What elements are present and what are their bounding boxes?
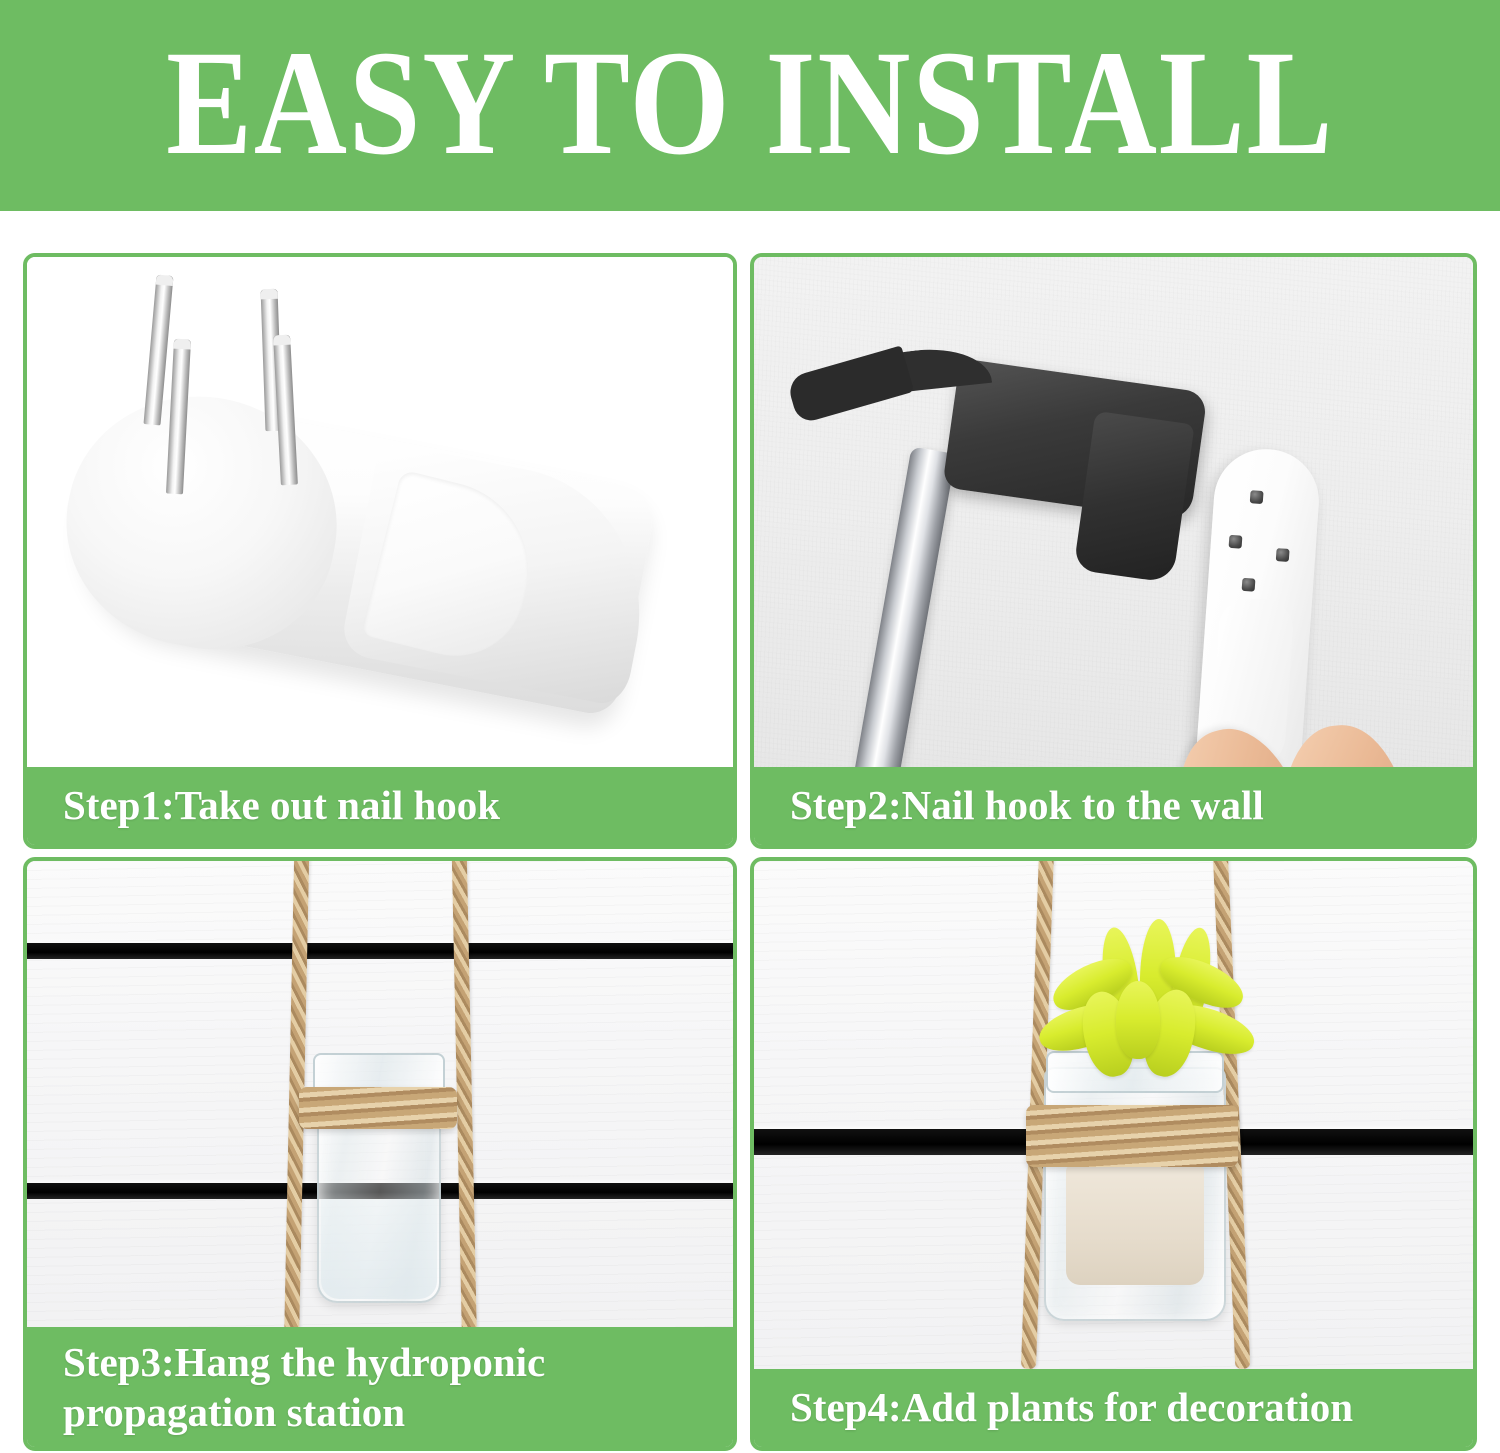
jar-water (321, 1199, 437, 1299)
jar-sand (1066, 1165, 1204, 1285)
step-2-photo (754, 257, 1473, 767)
rope-wrap-collar (299, 1087, 457, 1129)
succulent-leaf (1116, 981, 1160, 1059)
header-banner: EASY TO INSTALL (0, 0, 1500, 211)
nail-hook-illustration (27, 257, 733, 767)
rope-wrap-collar (1026, 1105, 1238, 1167)
steps-grid: Step1:Take out nail hook Step2:Nail hook… (0, 211, 1500, 1453)
step-card-2: Step2:Nail hook to the wall (750, 253, 1477, 849)
plank-gap (27, 943, 733, 959)
wall-mounted-hook (1195, 446, 1323, 767)
step-4-caption: Step4:Add plants for decoration (754, 1369, 1473, 1447)
step-3-caption: Step3:Hang the hydroponic propagation st… (27, 1327, 733, 1447)
step-1-photo (27, 257, 733, 767)
step-card-4: Step4:Add plants for decoration (750, 857, 1477, 1451)
step-4-photo (754, 861, 1473, 1369)
step-1-caption: Step1:Take out nail hook (27, 767, 733, 845)
step-3-photo (27, 861, 733, 1327)
page-title: EASY TO INSTALL (166, 28, 1334, 178)
step-2-caption: Step2:Nail hook to the wall (754, 767, 1473, 845)
hook-pin-hole-icon (1229, 535, 1243, 549)
hook-pin-hole-icon (1276, 548, 1290, 562)
hook-pin-hole-icon (1250, 490, 1264, 504)
step-card-1: Step1:Take out nail hook (23, 253, 737, 849)
step-card-3: Step3:Hang the hydroponic propagation st… (23, 857, 737, 1451)
hook-pin-hole-icon (1242, 578, 1256, 592)
